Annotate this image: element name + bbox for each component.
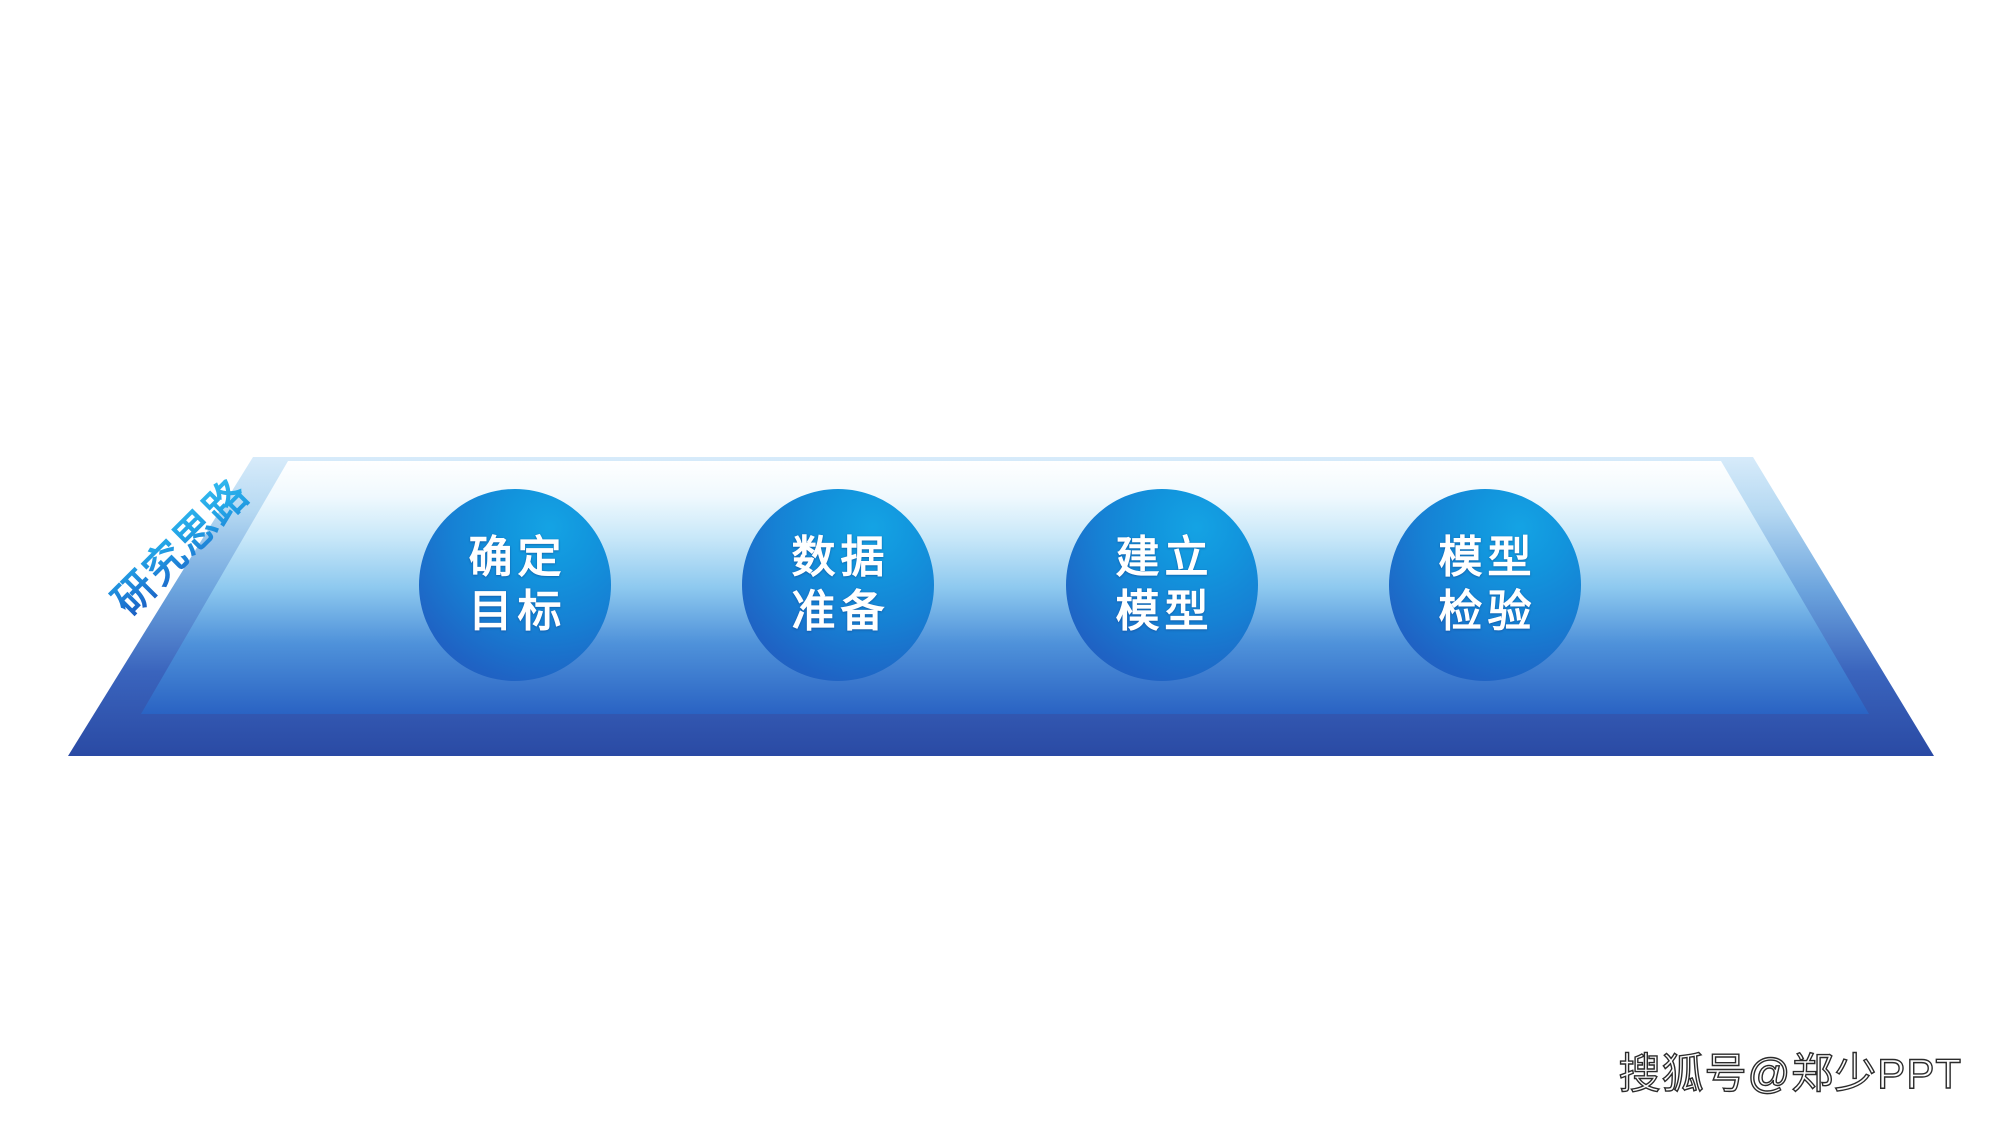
node-4-line-2: 检验 bbox=[1434, 585, 1537, 639]
node-2-line-1: 数据 bbox=[787, 531, 890, 585]
process-node-1[interactable]: 确定 目标 bbox=[419, 489, 611, 681]
node-2-line-2: 准备 bbox=[787, 585, 890, 639]
inner-trapezoid-shape bbox=[141, 461, 1869, 714]
node-3-line-2: 模型 bbox=[1111, 585, 1214, 639]
node-1-line-1: 确定 bbox=[464, 531, 567, 585]
node-4-line-1: 模型 bbox=[1434, 531, 1537, 585]
trapezoid-stage bbox=[0, 0, 2004, 1129]
node-3-line-1: 建立 bbox=[1111, 531, 1214, 585]
node-1-line-2: 目标 bbox=[464, 585, 567, 639]
process-node-4[interactable]: 模型 检验 bbox=[1389, 489, 1581, 681]
process-node-3[interactable]: 建立 模型 bbox=[1066, 489, 1258, 681]
slide-canvas: 研究思路 确定 目标 数据 准备 建立 模型 模型 检验 搜狐号@郑少PPT bbox=[0, 0, 2004, 1129]
watermark-text: 搜狐号@郑少PPT bbox=[1619, 1040, 1962, 1101]
process-node-2[interactable]: 数据 准备 bbox=[742, 489, 934, 681]
